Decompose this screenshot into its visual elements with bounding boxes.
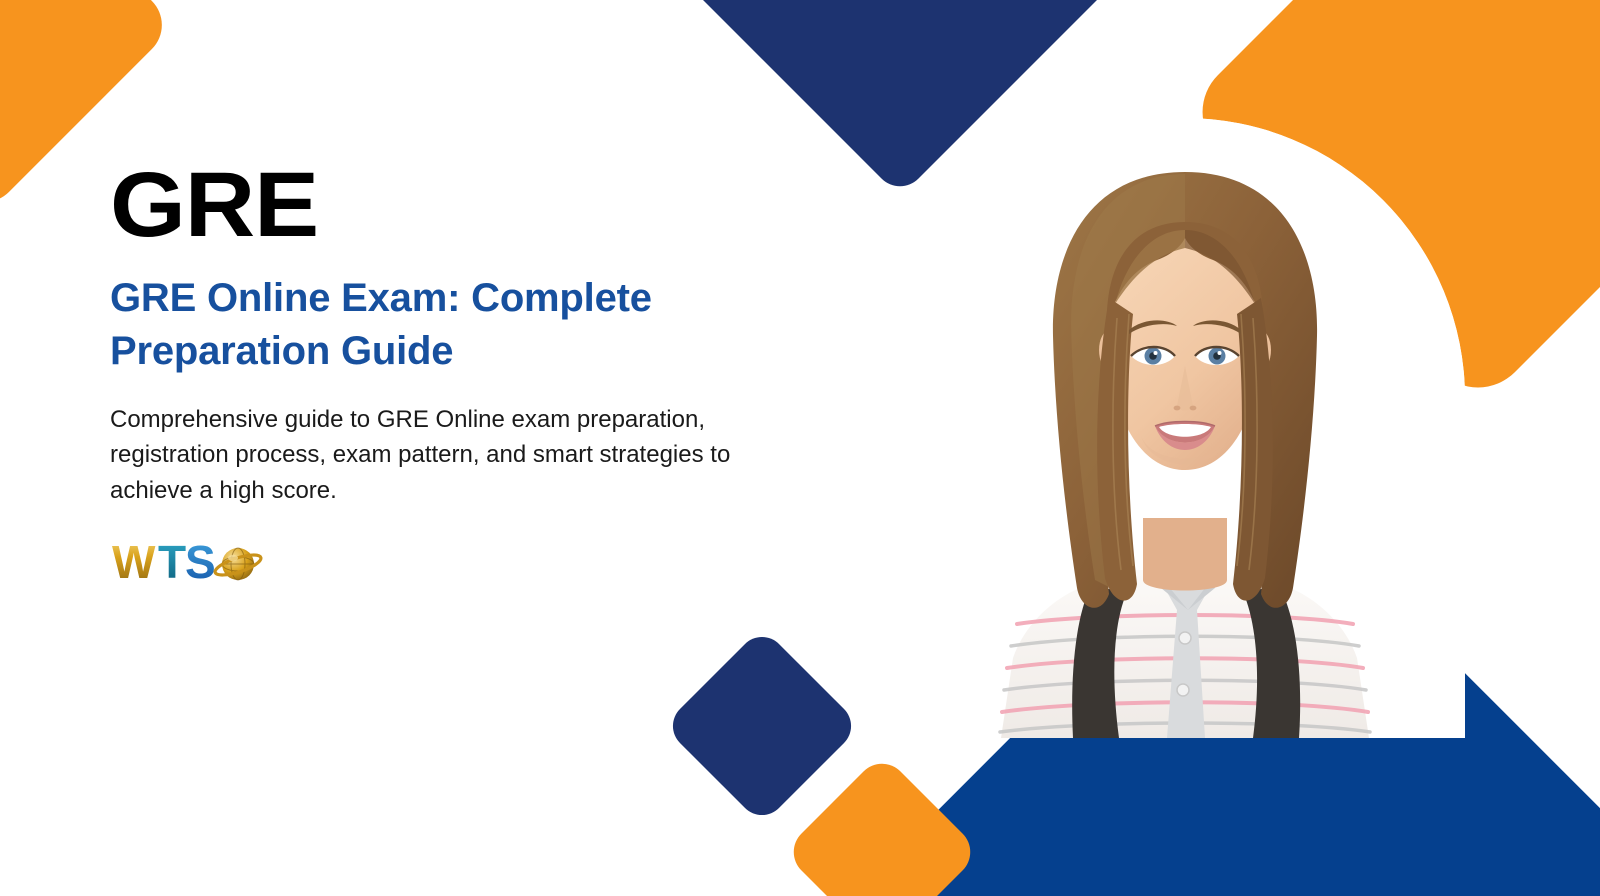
globe-planet-icon <box>213 548 263 580</box>
exam-name-title: GRE <box>110 160 852 250</box>
bottom-small-orange-diamond <box>783 753 981 896</box>
page-title: GRE Online Exam: Complete Preparation Gu… <box>110 272 730 378</box>
student-portrait <box>905 118 1465 738</box>
logo-letter-t: T <box>158 536 186 588</box>
banner-canvas: GRE GRE Online Exam: Complete Preparatio… <box>0 0 1600 896</box>
text-column: GRE GRE Online Exam: Complete Preparatio… <box>110 160 810 588</box>
page-subtitle: Comprehensive guide to GRE Online exam p… <box>110 402 790 509</box>
logo-letter-s: S <box>185 536 216 588</box>
bottom-small-navy-diamond <box>663 627 861 825</box>
wts-logo[interactable]: W T S <box>110 532 280 588</box>
logo-letter-w: W <box>112 536 156 588</box>
